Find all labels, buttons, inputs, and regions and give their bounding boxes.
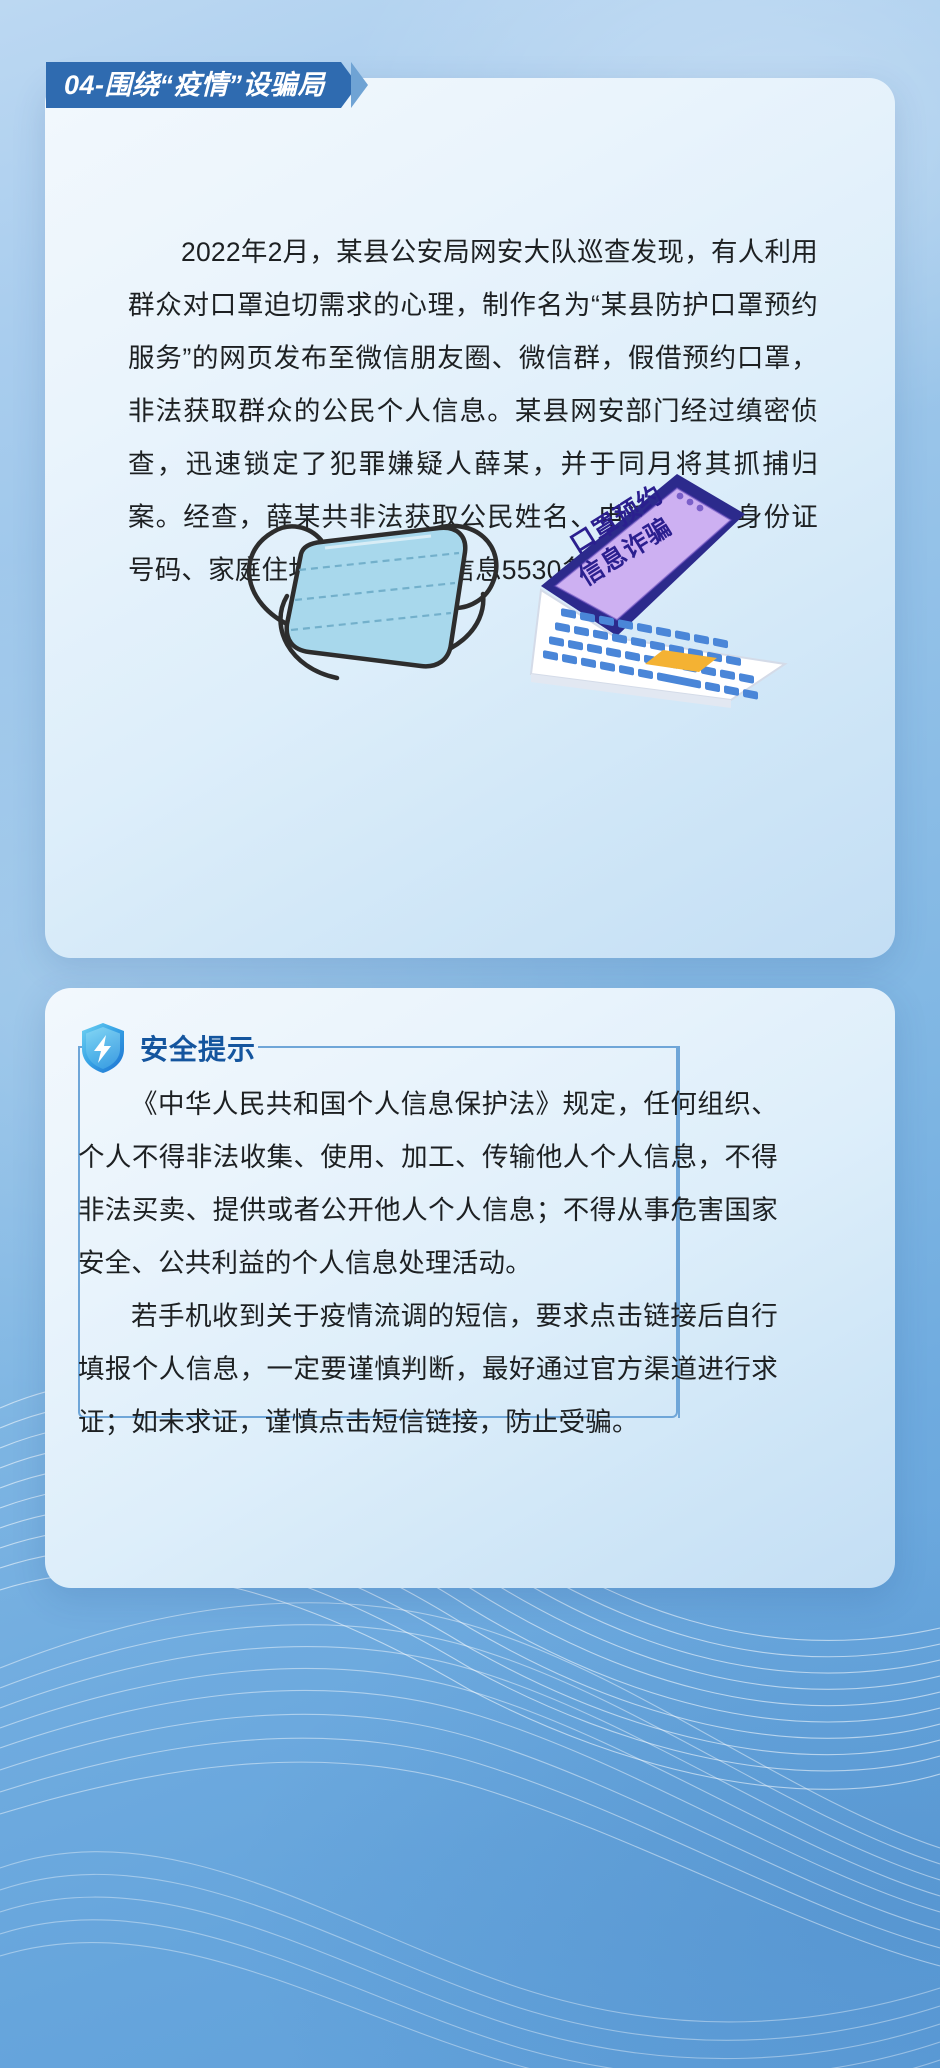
laptop-icon: 口罩预约 信息诈骗 <box>531 474 785 708</box>
safety-tips-header: 安全提示 <box>80 1022 256 1074</box>
safety-tips-paragraph-2: 若手机收到关于疫情流调的短信，要求点击链接后自行填报个人信息，一定要谨慎判断，最… <box>78 1290 778 1449</box>
double-chevron-right-icon <box>341 62 368 108</box>
case-banner-body: 04-围绕“疫情”设骗局 <box>46 62 341 108</box>
case-card: 2022年2月，某县公安局网安大队巡查发现，有人利用群众对口罩迫切需求的心理，制… <box>45 78 895 958</box>
face-mask-icon <box>249 526 496 678</box>
shield-bolt-icon <box>80 1022 126 1074</box>
safety-tips-paragraph-1: 《中华人民共和国个人信息保护法》规定，任何组织、个人不得非法收集、使用、加工、传… <box>78 1078 778 1290</box>
case-banner: 04-围绕“疫情”设骗局 <box>46 62 368 108</box>
case-banner-label: 04-围绕“疫情”设骗局 <box>64 72 325 99</box>
safety-tips-title: 安全提示 <box>140 1028 256 1068</box>
safety-tips-frame-rule <box>312 1046 680 1048</box>
case-illustration: 口罩预约 信息诈骗 <box>225 468 865 798</box>
